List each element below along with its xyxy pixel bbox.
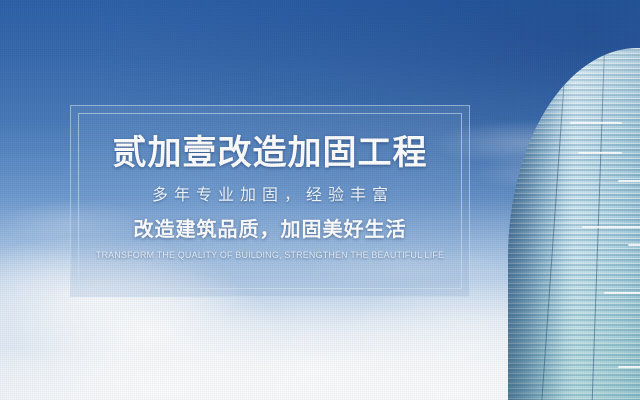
subline: 多年专业加固，经验丰富 bbox=[146, 188, 394, 204]
panel-content: 贰加壹改造加固工程 多年专业加固，经验丰富 改造建筑品质，加固美好生活 TRAN… bbox=[71, 106, 469, 296]
english-tagline: TRANSFORM THE QUALITY OF BUILDING, STREN… bbox=[96, 251, 444, 260]
tower-shading bbox=[508, 48, 640, 400]
skyscraper-photo bbox=[480, 0, 640, 400]
promotional-banner: 贰加壹改造加固工程 多年专业加固，经验丰富 改造建筑品质，加固美好生活 TRAN… bbox=[0, 0, 640, 400]
slogan: 改造建筑品质，加固美好生活 bbox=[134, 220, 407, 240]
headline: 贰加壹改造加固工程 bbox=[113, 136, 428, 170]
text-panel: 贰加壹改造加固工程 多年专业加固，经验丰富 改造建筑品质，加固美好生活 TRAN… bbox=[70, 105, 470, 297]
curved-glass-tower bbox=[508, 48, 640, 400]
